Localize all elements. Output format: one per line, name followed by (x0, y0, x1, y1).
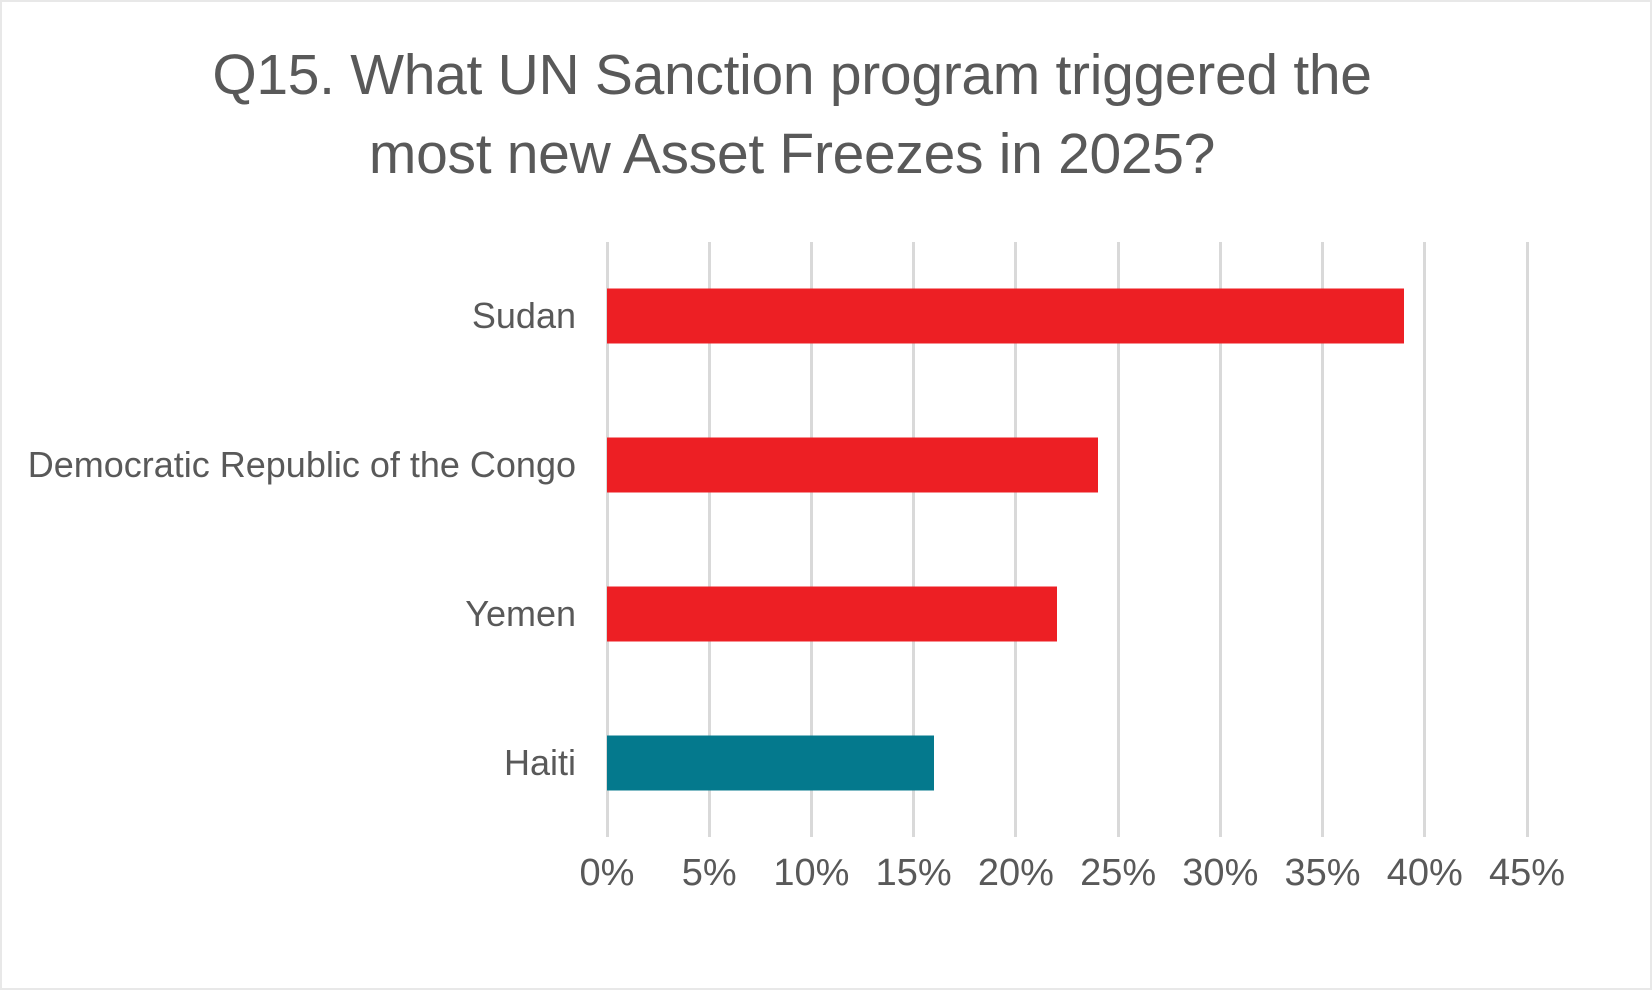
bar-haiti[interactable] (607, 735, 934, 790)
x-tick-label-5%: 5% (682, 852, 737, 895)
x-tick-label-0%: 0% (580, 852, 635, 895)
x-tick-label-45%: 45% (1489, 852, 1565, 895)
chart-title: Q15. What UN Sanction program triggered … (112, 36, 1472, 193)
chart-plot-wrapper: SudanDemocratic Republic of the CongoYem… (2, 242, 1652, 942)
bar-sudan[interactable] (607, 289, 1404, 344)
x-tick-label-20%: 20% (978, 852, 1054, 895)
x-tick-label-40%: 40% (1387, 852, 1463, 895)
x-tick-label-15%: 15% (876, 852, 952, 895)
x-tick-label-35%: 35% (1285, 852, 1361, 895)
category-label-haiti: Haiti (2, 742, 576, 784)
category-label-sudan: Sudan (2, 295, 576, 337)
bar-yemen[interactable] (607, 586, 1057, 641)
plot-area (607, 242, 1527, 837)
category-axis: SudanDemocratic Republic of the CongoYem… (2, 242, 590, 837)
gridline-45% (1526, 242, 1529, 837)
chart-slide: Q15. What UN Sanction program triggered … (0, 0, 1652, 990)
category-label-yemen: Yemen (2, 593, 576, 635)
category-label-democratic-republic-of-the-congo: Democratic Republic of the Congo (2, 444, 576, 486)
x-tick-label-30%: 30% (1182, 852, 1258, 895)
x-tick-label-25%: 25% (1080, 852, 1156, 895)
gridline-40% (1423, 242, 1426, 837)
x-tick-label-10%: 10% (773, 852, 849, 895)
bar-democratic-republic-of-the-congo[interactable] (607, 438, 1098, 493)
value-axis: 0%5%10%15%20%25%30%35%40%45% (607, 842, 1527, 902)
